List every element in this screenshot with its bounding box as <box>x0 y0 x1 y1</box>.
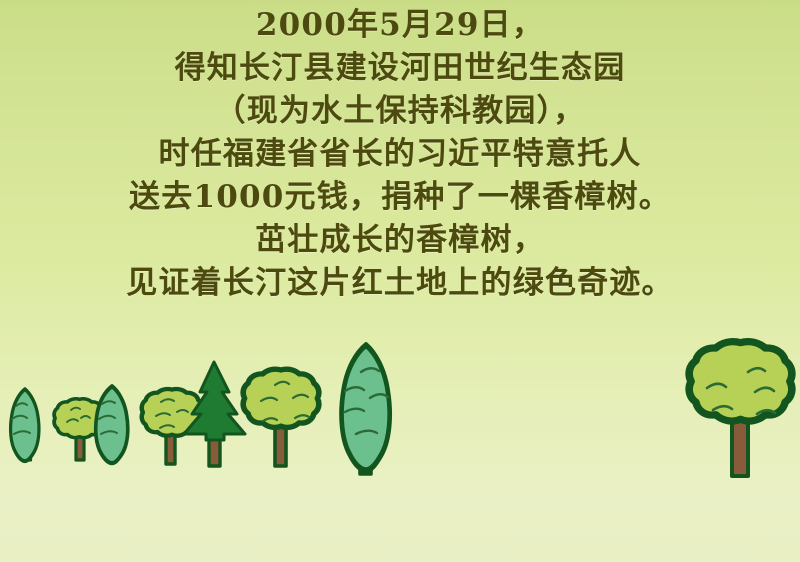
leaf-vein-marks <box>261 382 309 421</box>
caption-line-6: 茁壮成长的香樟树， <box>0 219 800 262</box>
caption-text-block: 2000年5月29日， 得知长汀县建设河田世纪生态园 （现为水土保持科教园）， … <box>0 0 800 305</box>
leaf-vein-marks <box>12 403 30 434</box>
tree-mid-lime-6 <box>243 369 319 466</box>
tree-small-teal-1 <box>11 389 39 461</box>
tree-mid-lime-4 <box>142 389 203 464</box>
poster-canvas: 2000年5月29日， 得知长汀县建设河田世纪生态园 （现为水土保持科教园）， … <box>0 0 800 562</box>
leaf-vein-marks <box>67 408 90 422</box>
caption-line-4: 时任福建省省长的习近平特意托人 <box>0 133 800 176</box>
leaf-vein-marks <box>707 368 775 414</box>
tree-small-teal-3 <box>96 386 128 463</box>
leaf-vein-marks <box>99 401 117 434</box>
leaf-vein-marks <box>156 399 188 428</box>
caption-line-7: 见证着长汀这片红土地上的绿色奇迹。 <box>0 262 800 305</box>
tree-large-lime-8 <box>689 342 792 476</box>
tree-small-lime-2 <box>54 399 105 460</box>
pine-canopy <box>184 362 245 440</box>
tree-pine-5 <box>184 362 245 466</box>
caption-line-3: （现为水土保持科教园）， <box>0 90 800 133</box>
caption-line-1: 2000年5月29日， <box>0 4 800 47</box>
caption-line-5: 送去1000元钱，捐种了一棵香樟树。 <box>0 176 800 219</box>
leaf-vein-marks <box>345 368 388 434</box>
caption-line-2: 得知长汀县建设河田世纪生态园 <box>0 47 800 90</box>
tree-tall-teal-7 <box>342 345 390 474</box>
